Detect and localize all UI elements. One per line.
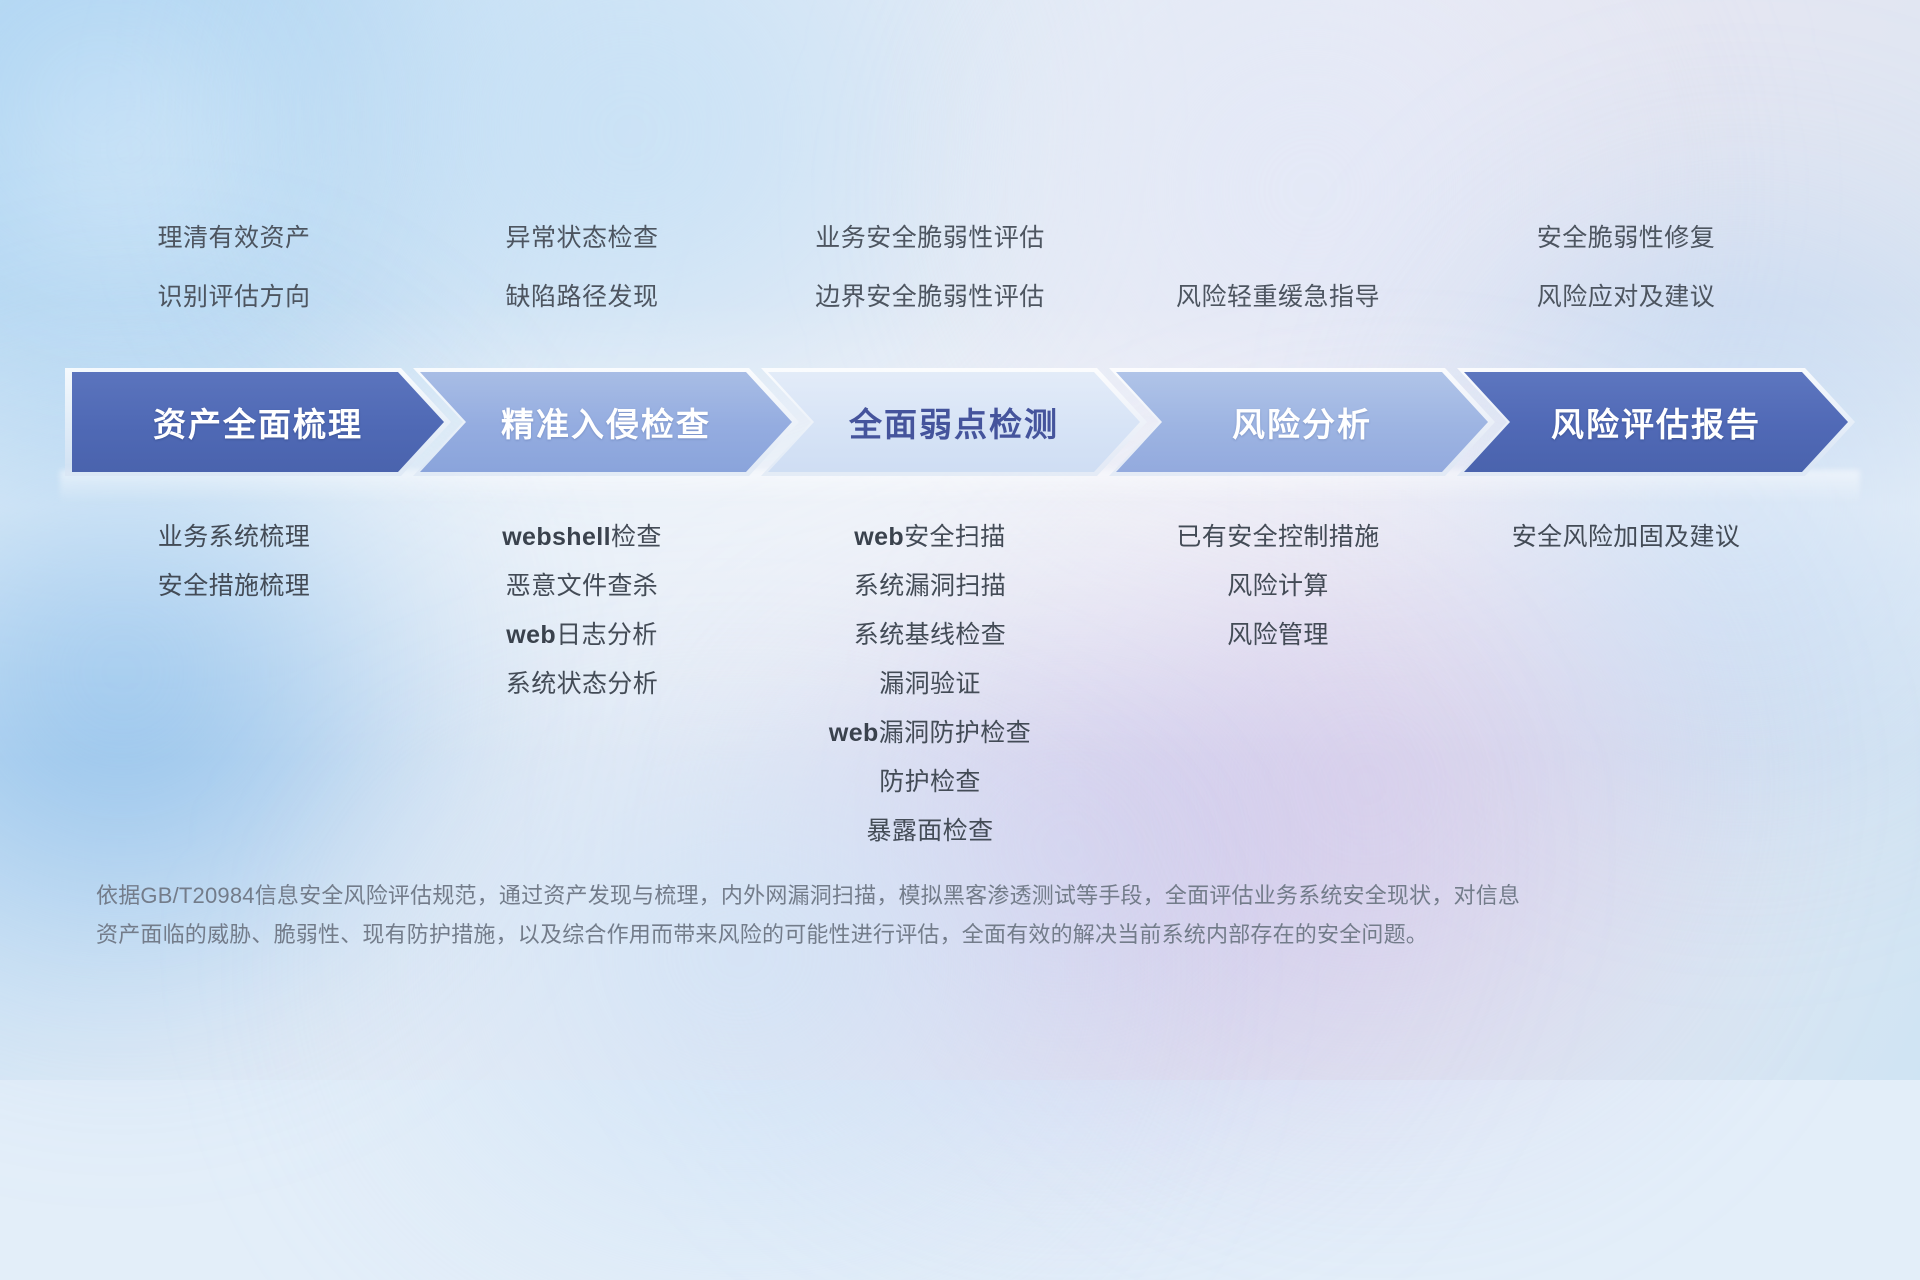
process-step-5-label: 风险评估报告 [1551,398,1761,446]
bottom-note-en: web [854,523,904,551]
column-gap [1440,525,1464,868]
column-gap [744,525,768,868]
top-note: 风险轻重缓急指导 [1176,285,1380,310]
footer-description: 依据GB/T20984信息安全风险评估规范，通过资产发现与梳理，内外网漏洞扫描，… [96,876,1616,954]
bottom-note-cn: 漏洞验证 [879,670,981,698]
bottom-note: 业务系统梳理 [158,525,310,550]
bottom-note: 风险管理 [1227,623,1329,648]
bottom-note-cn: 防护检查 [879,768,981,796]
bottom-note-cn: 恶意文件查杀 [506,572,658,600]
bottom-note: 安全措施梳理 [158,574,310,599]
process-step-2-label: 精准入侵检查 [501,398,711,446]
column-gap [1092,525,1116,868]
bottom-notes-step-4: 已有安全控制措施 风险计算 风险管理 [1116,525,1440,868]
bottom-note-en: webshell [502,523,611,551]
bottom-note: web漏洞防护检查 [829,721,1031,746]
process-step-1-label: 资产全面梳理 [153,398,363,446]
bottom-note: 防护检查 [879,770,981,795]
process-step-4-chevron[interactable]: 风险分析 [1116,372,1488,472]
top-note: 安全脆弱性修复 [1537,226,1716,251]
bottom-note-en: web [829,719,879,747]
bottom-note: 风险计算 [1227,574,1329,599]
bottom-note: 恶意文件查杀 [506,574,658,599]
bottom-note-cn: 风险管理 [1227,621,1329,649]
bottom-note-cn: 安全扫描 [904,523,1006,551]
bottom-note: 系统漏洞扫描 [854,574,1006,599]
bottom-note-cn: 系统漏洞扫描 [854,572,1006,600]
bottom-notes-step-5: 安全风险加固及建议 [1464,525,1788,868]
bottom-notes-step-3: web安全扫描 系统漏洞扫描 系统基线检查 漏洞验证 web漏洞防护检查 防护检… [768,525,1092,868]
top-notes-step-4: 风险轻重缓急指导 [1116,226,1440,310]
column-gap [396,226,420,310]
bottom-note-cn: 暴露面检查 [866,817,993,845]
column-gap [1440,226,1464,310]
top-notes-step-1: 理清有效资产 识别评估方向 [72,226,396,310]
bottom-note: 系统基线检查 [854,623,1006,648]
bottom-note-cn: 日志分析 [556,621,658,649]
bottom-note-cn: 业务系统梳理 [158,523,310,551]
bottom-notes-step-2: webshell检查 恶意文件查杀 web日志分析 系统状态分析 [420,525,744,868]
bottom-note: 系统状态分析 [506,672,658,697]
process-step-3-label: 全面弱点检测 [849,398,1059,446]
bottom-note-en: web [506,621,556,649]
bottom-note-cn: 已有安全控制措施 [1176,523,1379,551]
column-gap [396,525,420,868]
process-step-4-label: 风险分析 [1232,398,1372,446]
top-note: 识别评估方向 [157,285,310,310]
top-note: 风险应对及建议 [1537,285,1716,310]
top-note: 业务安全脆弱性评估 [815,226,1045,251]
top-note: 理清有效资产 [157,226,310,251]
top-note: 边界安全脆弱性评估 [815,285,1045,310]
top-notes-row: 理清有效资产 识别评估方向 异常状态检查 缺陷路径发现 业务安全脆弱性评估 边界… [72,226,1848,310]
top-notes-step-3: 业务安全脆弱性评估 边界安全脆弱性评估 [768,226,1092,310]
top-note: 缺陷路径发现 [505,285,658,310]
bottom-note: web日志分析 [506,623,657,648]
bottom-note: webshell检查 [502,525,662,550]
top-notes-step-2: 异常状态检查 缺陷路径发现 [420,226,744,310]
bottom-note: 安全风险加固及建议 [1512,525,1741,550]
process-step-3-chevron[interactable]: 全面弱点检测 [768,372,1140,472]
top-notes-step-5: 安全脆弱性修复 风险应对及建议 [1464,226,1788,310]
process-step-5-chevron[interactable]: 风险评估报告 [1464,372,1848,472]
bottom-note-cn: 系统状态分析 [506,670,658,698]
bottom-note-cn: 检查 [611,523,662,551]
column-gap [744,226,768,310]
bottom-note-cn: 系统基线检查 [854,621,1006,649]
process-step-1-chevron[interactable]: 资产全面梳理 [72,372,444,472]
bottom-note-cn: 安全风险加固及建议 [1512,523,1741,551]
process-step-2-chevron[interactable]: 精准入侵检查 [420,372,792,472]
bottom-note-cn: 安全措施梳理 [158,572,310,600]
bottom-note: 暴露面检查 [866,819,993,844]
footer-line-2: 资产面临的威胁、脆弱性、现有防护措施，以及综合作用而带来风险的可能性进行评估，全… [96,915,1616,954]
top-note: 异常状态检查 [505,226,658,251]
infographic-stage: 理清有效资产 识别评估方向 异常状态检查 缺陷路径发现 业务安全脆弱性评估 边界… [0,0,1920,1080]
bottom-note: 漏洞验证 [879,672,981,697]
bottom-notes-step-1: 业务系统梳理 安全措施梳理 [72,525,396,868]
footer-line-1: 依据GB/T20984信息安全风险评估规范，通过资产发现与梳理，内外网漏洞扫描，… [96,876,1616,915]
column-gap [1092,226,1116,310]
bottom-note: 已有安全控制措施 [1176,525,1379,550]
bottom-note-cn: 风险计算 [1227,572,1329,600]
bottom-note-cn: 漏洞防护检查 [879,719,1031,747]
process-chevron-band: 资产全面梳理 精准入侵检查 全面弱点检测 风险分析 风险评估报告 [72,372,1848,472]
bottom-notes-row: 业务系统梳理 安全措施梳理 webshell检查 恶意文件查杀 web日志分析 … [72,525,1848,868]
bottom-note: web安全扫描 [854,525,1005,550]
